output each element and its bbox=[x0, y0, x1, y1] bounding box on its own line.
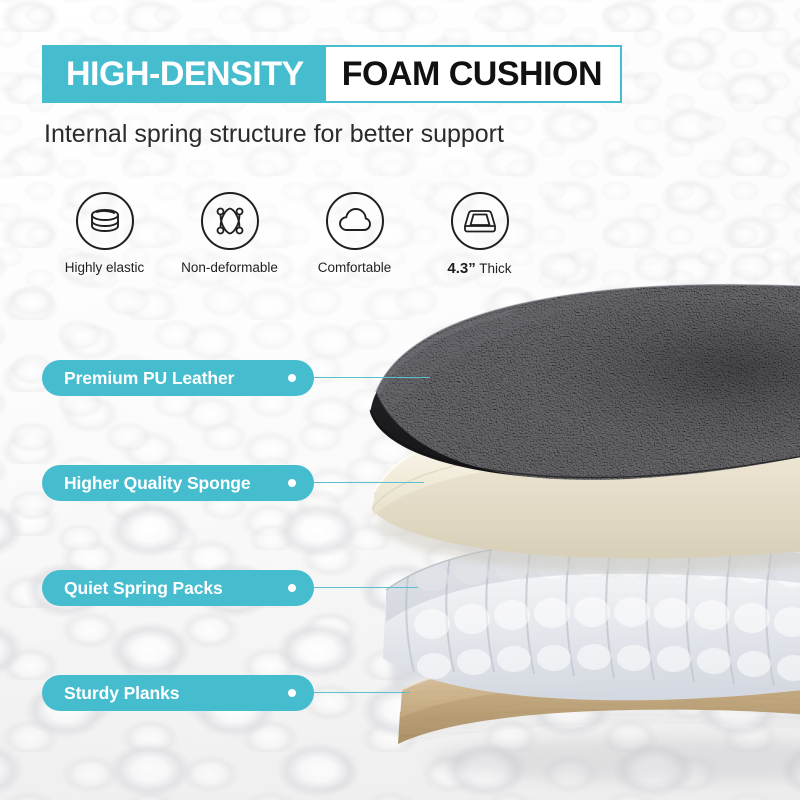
feature-thickness: 4.3” Thick bbox=[417, 192, 542, 277]
callout-premium-pu-leather[interactable]: Premium PU Leather bbox=[42, 360, 314, 396]
connector-line-plank bbox=[314, 692, 410, 693]
feature-label: 4.3” Thick bbox=[447, 260, 511, 277]
callout-sturdy-planks[interactable]: Sturdy Planks bbox=[42, 675, 314, 711]
header-plain-text: FOAM CUSHION bbox=[342, 57, 602, 91]
connector-line-spring bbox=[314, 587, 418, 588]
callout-dot bbox=[288, 374, 296, 382]
cloud-icon bbox=[336, 202, 374, 240]
callout-label: Premium PU Leather bbox=[64, 368, 234, 389]
feature-label: Non-deformable bbox=[181, 260, 278, 275]
connector-line-pu-leather bbox=[314, 377, 430, 378]
non-deformable-icon bbox=[211, 202, 249, 240]
feature-non-deformable: Non-deformable bbox=[167, 192, 292, 277]
connector-line-sponge bbox=[314, 482, 424, 483]
callout-label: Quiet Spring Packs bbox=[64, 578, 223, 599]
subtitle: Internal spring structure for better sup… bbox=[44, 120, 504, 149]
callout-pill[interactable]: Sturdy Planks bbox=[42, 675, 314, 711]
callout-pill[interactable]: Premium PU Leather bbox=[42, 360, 314, 396]
cushion-thickness-icon bbox=[460, 201, 500, 241]
product-infographic: HIGH-DENSITY FOAM CUSHION Internal sprin… bbox=[0, 0, 800, 800]
callout-dot bbox=[288, 584, 296, 592]
feature-circle bbox=[451, 192, 509, 250]
callout-pill[interactable]: Higher Quality Sponge bbox=[42, 465, 314, 501]
feature-circle bbox=[201, 192, 259, 250]
feature-highly-elastic: Highly elastic bbox=[42, 192, 167, 277]
feature-circle bbox=[76, 192, 134, 250]
header-highlight-block: HIGH-DENSITY bbox=[42, 45, 326, 103]
header-plain-block: FOAM CUSHION bbox=[326, 45, 622, 103]
callout-quiet-spring-packs[interactable]: Quiet Spring Packs bbox=[42, 570, 314, 606]
callout-dot bbox=[288, 479, 296, 487]
header-banner: HIGH-DENSITY FOAM CUSHION bbox=[42, 45, 622, 103]
thickness-value: 4.3” bbox=[447, 260, 475, 277]
feature-icon-row: Highly elastic Non-deform bbox=[42, 192, 542, 277]
callout-higher-quality-sponge[interactable]: Higher Quality Sponge bbox=[42, 465, 314, 501]
feature-label: Comfortable bbox=[318, 260, 392, 275]
callout-label: Higher Quality Sponge bbox=[64, 473, 251, 494]
feature-comfortable: Comfortable bbox=[292, 192, 417, 277]
feature-circle bbox=[326, 192, 384, 250]
header-highlight-text: HIGH-DENSITY bbox=[66, 57, 304, 91]
callout-dot bbox=[288, 689, 296, 697]
callout-label: Sturdy Planks bbox=[64, 683, 179, 704]
callout-pill[interactable]: Quiet Spring Packs bbox=[42, 570, 314, 606]
feature-label: Highly elastic bbox=[65, 260, 145, 275]
thickness-unit: Thick bbox=[479, 261, 511, 276]
spring-coil-icon bbox=[86, 202, 124, 240]
